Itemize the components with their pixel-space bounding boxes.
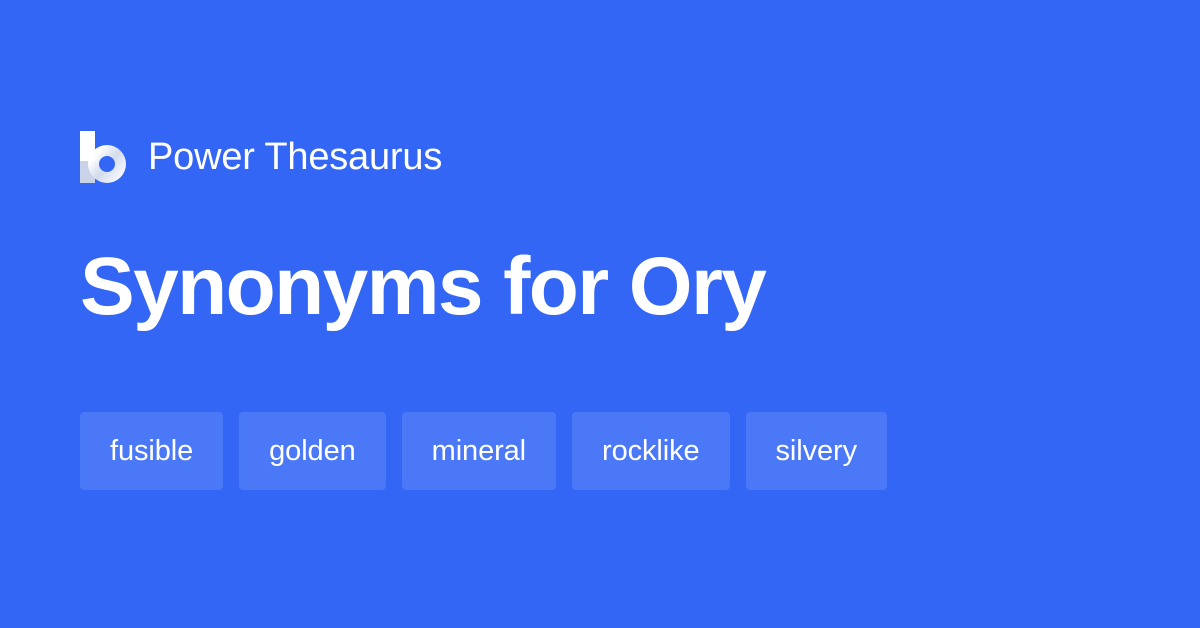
power-thesaurus-b-logo-icon bbox=[80, 131, 126, 183]
brand-name: Power Thesaurus bbox=[148, 138, 442, 176]
logo-counter bbox=[99, 156, 115, 172]
synonym-chip-row: fusible golden mineral rocklike silvery bbox=[80, 412, 887, 490]
synonym-chip[interactable]: rocklike bbox=[572, 412, 730, 490]
brand-lockup[interactable]: Power Thesaurus bbox=[80, 128, 442, 186]
synonym-chip[interactable]: mineral bbox=[402, 412, 556, 490]
page-title: Synonyms for Ory bbox=[80, 246, 765, 328]
synonym-chip-label: golden bbox=[269, 437, 356, 466]
synonym-chip-label: mineral bbox=[432, 437, 526, 466]
og-card: Power Thesaurus Synonyms for Ory fusible… bbox=[0, 0, 1200, 628]
logo-stem-top bbox=[80, 131, 95, 161]
synonym-chip-label: fusible bbox=[110, 437, 193, 466]
synonym-chip[interactable]: silvery bbox=[746, 412, 887, 490]
synonym-chip-label: rocklike bbox=[602, 437, 700, 466]
synonym-chip-label: silvery bbox=[776, 437, 857, 466]
synonym-chip[interactable]: golden bbox=[239, 412, 386, 490]
synonym-chip[interactable]: fusible bbox=[80, 412, 223, 490]
